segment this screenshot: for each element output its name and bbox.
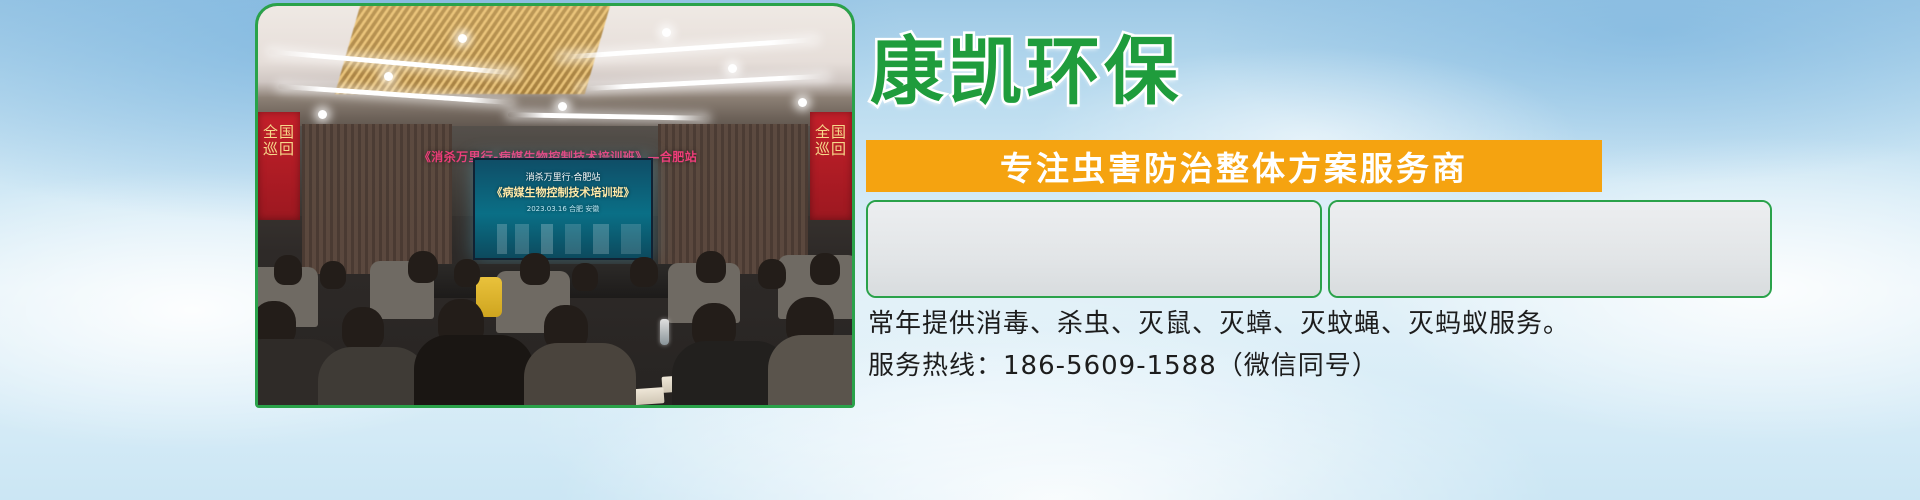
audience-head: [758, 259, 786, 289]
ceiling-spotlight: [318, 110, 327, 119]
audience-crowd: [258, 215, 855, 405]
red-vertical-banner-left: 全国巡回: [258, 112, 300, 220]
audience-body: [524, 343, 636, 405]
audience-head: [572, 263, 598, 291]
audience-head: [342, 307, 384, 351]
services-text: 常年提供消毒、杀虫、灭鼠、灭蟑、灭蚊蝇、灭蚂蚁服务。: [868, 303, 1570, 340]
screen-line-3: 2023.03.16 合肥 安徽: [475, 204, 651, 214]
audience-body: [414, 335, 534, 405]
hotline-label: 服务热线：: [868, 351, 1003, 381]
right-content-column: 康凯环保 专注虫害防治整体方案服务商: [862, 0, 1920, 500]
ceiling-spotlight: [728, 64, 737, 73]
chandelier-decor: [335, 3, 611, 94]
audience-head: [274, 255, 302, 285]
ceiling-spotlight: [458, 34, 467, 43]
hotline-note: （微信同号）: [1217, 351, 1379, 381]
ceiling-spotlight: [798, 98, 807, 107]
ceiling-spotlight: [662, 28, 671, 37]
team-photo-2: [1328, 200, 1772, 298]
hotline-number[interactable]: 186-5609-1588: [1003, 351, 1217, 381]
studio-backdrop: [1330, 202, 1770, 296]
brand-title: 康凯环保: [870, 32, 1182, 112]
ceiling-spotlight: [384, 72, 393, 81]
studio-backdrop: [868, 202, 1320, 296]
screen-line-1: 消杀万里行·合肥站: [475, 170, 651, 183]
audience-head: [408, 251, 438, 283]
audience-head: [520, 253, 550, 285]
ceiling-spotlight: [558, 102, 567, 111]
slogan-bar: 专注虫害防治整体方案服务商: [866, 140, 1602, 192]
audience-head: [320, 261, 346, 289]
audience-head: [810, 253, 840, 285]
audience-head: [630, 257, 658, 287]
audience-head: [696, 251, 726, 283]
water-bottle: [660, 319, 669, 345]
audience-head: [454, 259, 480, 287]
audience-body: [318, 347, 428, 405]
audience-body: [768, 335, 855, 405]
slogan-text: 专注虫害防治整体方案服务商: [1000, 142, 1468, 190]
red-vertical-banner-right: 全国巡回: [810, 112, 852, 220]
team-photo-1: [866, 200, 1322, 298]
screen-line-2: 《病媒生物控制技术培训班》: [475, 184, 651, 200]
hotline-line: 服务热线：186-5609-1588（微信同号）: [868, 345, 1379, 382]
promo-banner: 全国巡回 全国巡回 《消杀万里行-病媒生物控制技术培训班》—合肥站 消杀万里行·…: [0, 0, 1920, 500]
conference-training-photo: 全国巡回 全国巡回 《消杀万里行-病媒生物控制技术培训班》—合肥站 消杀万里行·…: [255, 3, 855, 408]
